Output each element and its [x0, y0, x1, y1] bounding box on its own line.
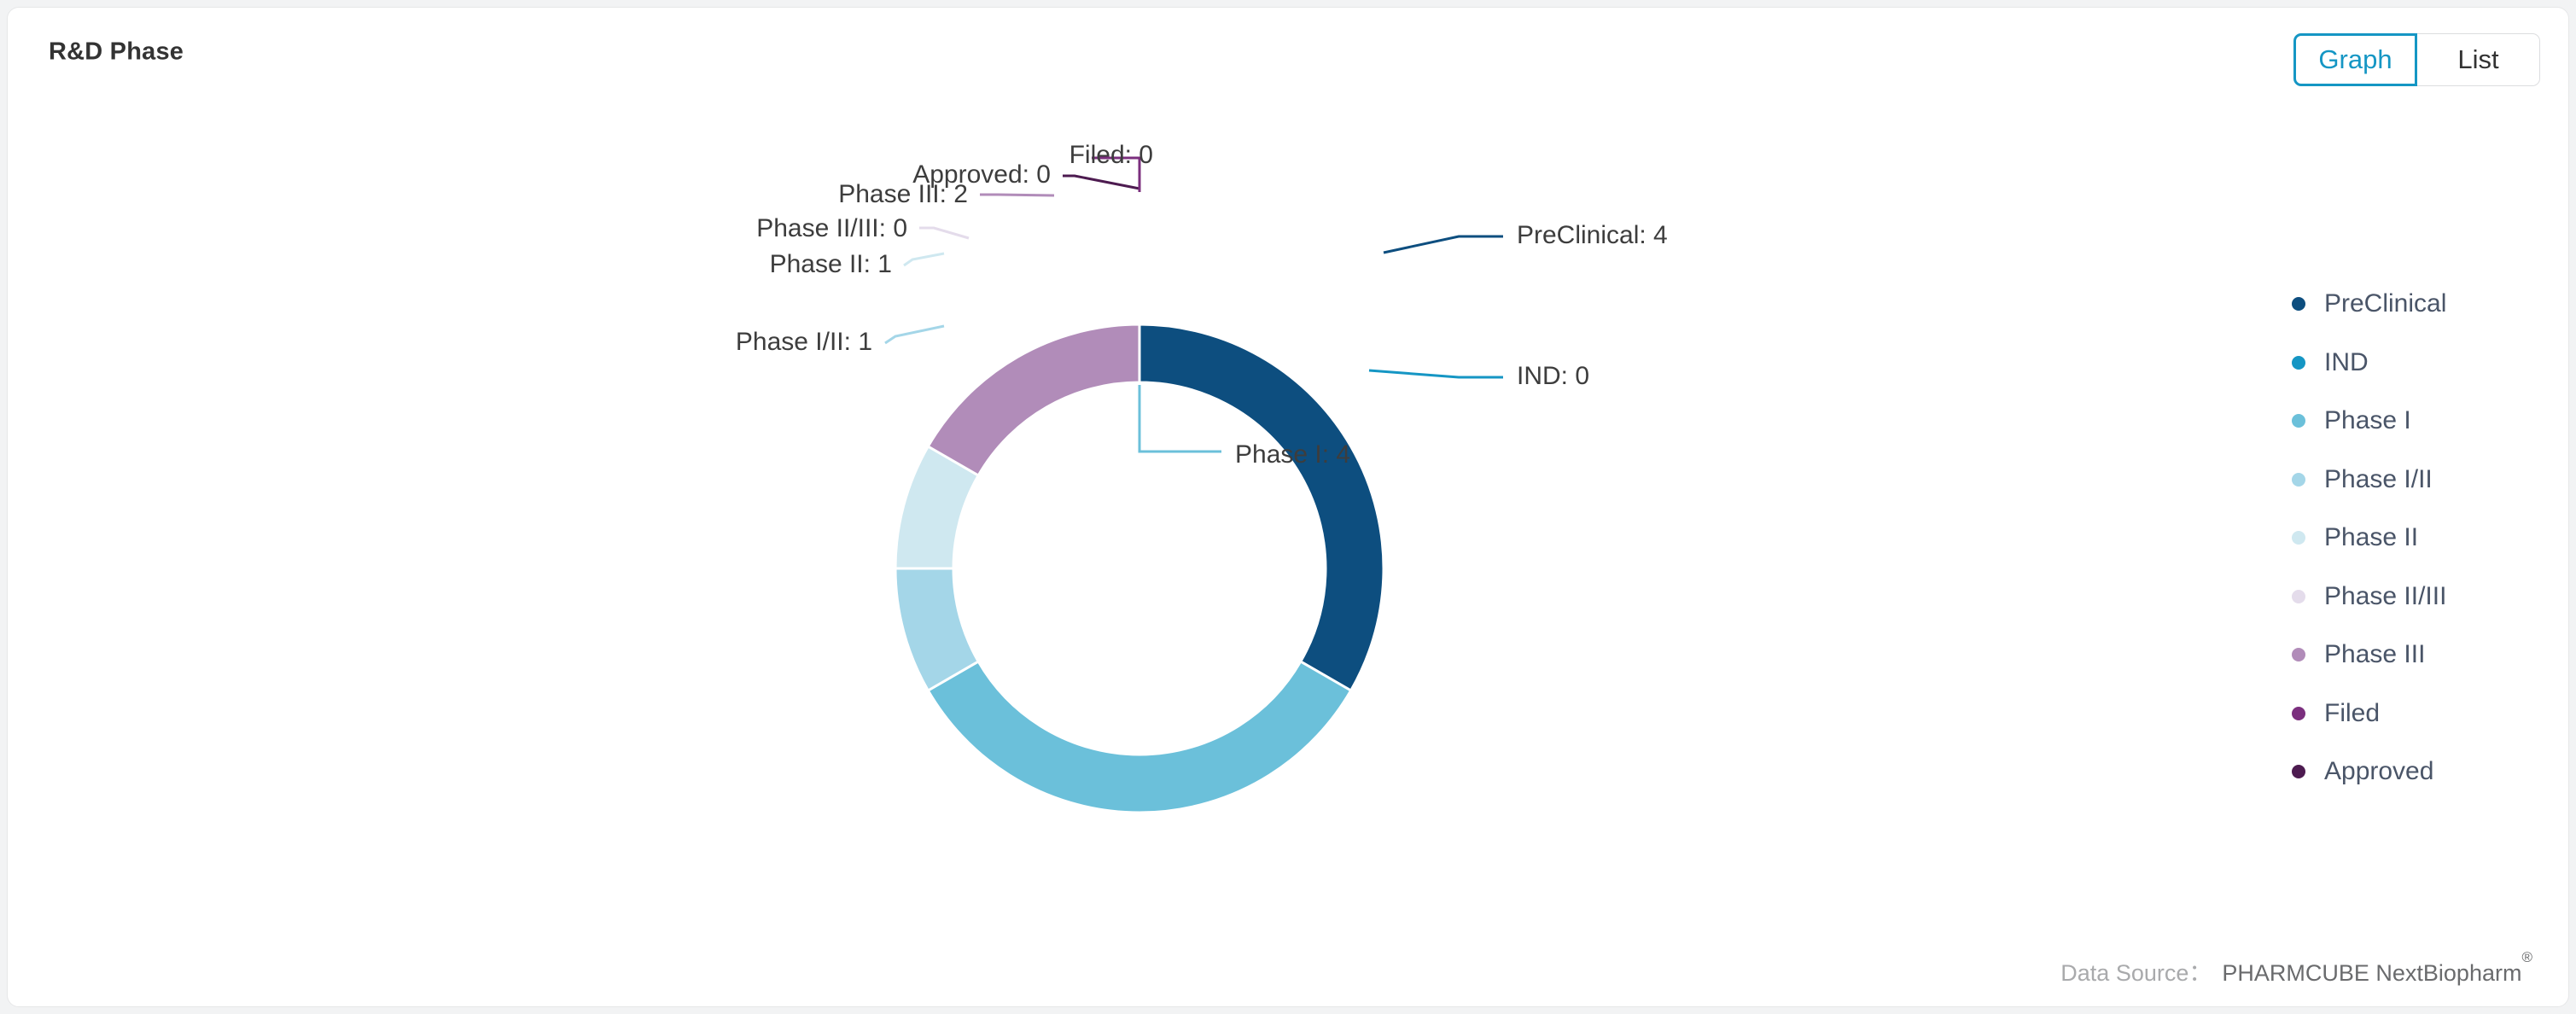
legend-item[interactable]: Phase III: [2292, 640, 2548, 669]
data-source-label: Data Source：: [2060, 954, 2212, 988]
legend-item[interactable]: Phase I/II: [2292, 465, 2548, 494]
leader-line: [1369, 370, 1503, 377]
card-header: R&D Phase Graph List: [8, 8, 2568, 76]
slice-label: Filed: 0: [1069, 141, 1153, 169]
legend-item-label: Phase II/III: [2324, 582, 2446, 611]
leader-line: [980, 195, 1054, 195]
legend-color-swatch: [2292, 531, 2305, 545]
legend-color-swatch: [2292, 648, 2305, 661]
donut-slice[interactable]: [1139, 324, 1384, 691]
legend-item-label: PreClinical: [2324, 289, 2446, 318]
legend-color-swatch: [2292, 356, 2305, 370]
legend-item[interactable]: Phase I: [2292, 406, 2548, 435]
slice-label: IND: 0: [1517, 362, 1589, 390]
legend-color-swatch: [2292, 414, 2305, 428]
tab-graph[interactable]: Graph: [2293, 33, 2417, 86]
legend-item-label: Filed: [2324, 699, 2380, 728]
leader-line: [1063, 176, 1139, 189]
data-source-footer: Data Source： PHARMCUBE NextBiopharm®: [2060, 954, 2532, 988]
legend-item-label: Phase I: [2324, 406, 2411, 435]
legend-color-swatch: [2292, 590, 2305, 603]
legend-color-swatch: [2292, 765, 2305, 778]
slice-label: Phase II/III: 0: [756, 214, 907, 242]
registered-trademark-icon: ®: [2521, 949, 2532, 965]
rd-phase-donut-chart: PreClinical: 4IND: 0Phase I: 4Phase I/II…: [8, 76, 2568, 912]
legend-item[interactable]: Phase II: [2292, 523, 2548, 552]
leader-line: [919, 228, 969, 238]
legend-item-label: Approved: [2324, 757, 2433, 786]
legend-color-swatch: [2292, 707, 2305, 720]
slice-label: Phase II: 1: [770, 250, 892, 278]
data-source-name: PHARMCUBE NextBiopharm: [2222, 960, 2521, 986]
rd-phase-card: R&D Phase Graph List PreClinical: 4IND: …: [7, 7, 2569, 1007]
legend-item-label: IND: [2324, 348, 2369, 377]
slice-label: Phase I: 4: [1235, 440, 1350, 469]
legend-item-label: Phase II: [2324, 523, 2418, 552]
legend-item[interactable]: PreClinical: [2292, 289, 2548, 318]
legend-item-label: Phase III: [2324, 640, 2425, 669]
slice-labels: PreClinical: 4IND: 0Phase I: 4Phase I/II…: [736, 141, 1668, 469]
slice-label: Approved: 0: [912, 160, 1051, 189]
slice-label: Phase I/II: 1: [736, 328, 872, 356]
slice-label: PreClinical: 4: [1517, 221, 1668, 249]
legend-item[interactable]: Phase II/III: [2292, 582, 2548, 611]
leader-line: [1384, 236, 1503, 253]
donut-chart-area: PreClinical: 4IND: 0Phase I: 4Phase I/II…: [8, 76, 2568, 912]
legend-item[interactable]: IND: [2292, 348, 2548, 377]
legend-color-swatch: [2292, 473, 2305, 487]
data-source-value: PHARMCUBE NextBiopharm®: [2222, 959, 2532, 987]
donut-slice[interactable]: [928, 324, 1139, 475]
chart-legend: PreClinicalINDPhase IPhase I/IIPhase IIP…: [2292, 289, 2548, 816]
legend-item-label: Phase I/II: [2324, 465, 2433, 494]
donut-slice[interactable]: [928, 661, 1350, 813]
legend-color-swatch: [2292, 297, 2305, 311]
leader-line: [885, 326, 944, 343]
legend-item[interactable]: Filed: [2292, 699, 2548, 728]
leader-line: [904, 253, 944, 265]
page-title: R&D Phase: [49, 38, 184, 67]
legend-item[interactable]: Approved: [2292, 757, 2548, 786]
